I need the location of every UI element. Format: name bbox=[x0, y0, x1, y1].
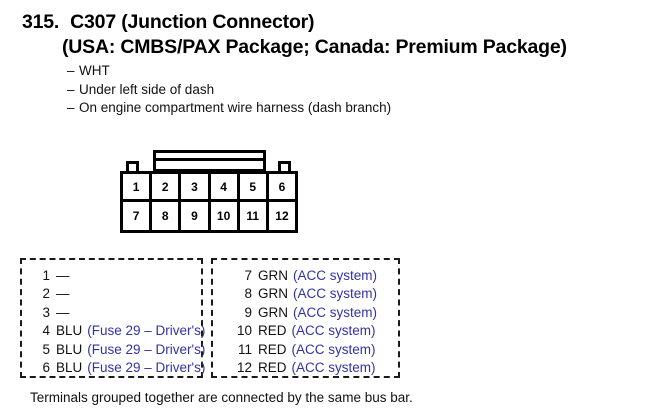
note-item: – On engine compartment wire harness (da… bbox=[67, 99, 627, 118]
terminal-legend-pin: 3 bbox=[30, 304, 50, 322]
page-title: 315. C307 (Junction Connector) (USA: CMB… bbox=[22, 10, 662, 60]
terminal-legend-circuit: (ACC system) bbox=[293, 304, 377, 322]
connector-title-text: C307 (Junction Connector) bbox=[70, 10, 314, 35]
terminal-cell: 6 bbox=[269, 174, 295, 199]
terminal-legend-row: 7 GRN (ACC system) bbox=[213, 267, 398, 285]
note-item-label: WHT bbox=[79, 62, 110, 81]
terminal-cell: 8 bbox=[152, 202, 181, 230]
terminal-legend-circuit: (ACC system) bbox=[293, 285, 377, 303]
terminal-legend-row: 5 BLU (Fuse 29 – Driver's) bbox=[22, 341, 201, 359]
terminal-legend-pin: 4 bbox=[30, 322, 50, 340]
terminal-legend-wire-color: BLU bbox=[56, 341, 82, 359]
terminal-legend-wire-color: RED bbox=[258, 359, 287, 377]
terminal-legend-pin: 11 bbox=[226, 341, 252, 359]
terminal-legend-wire-color: GRN bbox=[258, 285, 288, 303]
terminal-legend-pin: 9 bbox=[226, 304, 252, 322]
terminal-legend-pin: 1 bbox=[30, 267, 50, 285]
note-dash-icon: – bbox=[67, 99, 79, 118]
terminal-legend-wire-color: GRN bbox=[258, 304, 288, 322]
terminal-legend-pin: 8 bbox=[226, 285, 252, 303]
terminal-legend-row: 8 GRN (ACC system) bbox=[213, 285, 398, 303]
terminal-legend-wire-color: RED bbox=[258, 322, 287, 340]
note-item-label: Under left side of dash bbox=[79, 81, 214, 100]
connector-terminal-grid: 1 2 3 4 5 6 7 8 9 10 11 12 bbox=[120, 171, 298, 233]
terminal-legend-row: 1 — bbox=[22, 267, 201, 285]
terminal-legend-circuit: (ACC system) bbox=[292, 322, 376, 340]
connector-latch-tab bbox=[153, 150, 266, 172]
terminal-cell: 2 bbox=[152, 174, 181, 199]
terminal-cell: 9 bbox=[181, 202, 210, 230]
terminal-cell: 4 bbox=[211, 174, 240, 199]
terminal-legend-circuit: (ACC system) bbox=[293, 267, 377, 285]
terminal-cell: 7 bbox=[123, 202, 152, 230]
terminal-legend-wire-color: BLU bbox=[56, 359, 82, 377]
bus-bar-footnote: Terminals grouped together are connected… bbox=[30, 389, 413, 407]
terminal-legend-pin: 6 bbox=[30, 359, 50, 377]
note-item: – Under left side of dash bbox=[67, 81, 627, 100]
bus-bar-group-left: 1 — 2 — 3 — 4 BLU (Fuse 29 – Driver's) 5… bbox=[20, 258, 203, 378]
terminal-cell: 1 bbox=[123, 174, 152, 199]
terminal-legend-pin: 7 bbox=[226, 267, 252, 285]
note-dash-icon: – bbox=[67, 81, 79, 100]
note-item-label: On engine compartment wire harness (dash… bbox=[79, 99, 391, 118]
terminal-legend-circuit: (Fuse 29 – Driver's) bbox=[87, 341, 205, 359]
terminal-legend-row: 10 RED (ACC system) bbox=[213, 322, 398, 340]
terminal-legend-wire-color: — bbox=[56, 267, 70, 285]
connector-notes-list: – WHT – Under left side of dash – On eng… bbox=[67, 62, 627, 118]
terminal-cell: 10 bbox=[211, 202, 240, 230]
terminal-legend-circuit: (Fuse 29 – Driver's) bbox=[87, 322, 205, 340]
terminal-row-top: 1 2 3 4 5 6 bbox=[123, 174, 295, 202]
terminal-legend-wire-color: — bbox=[56, 285, 70, 303]
title-line-primary: 315. C307 (Junction Connector) bbox=[22, 10, 662, 35]
terminal-legend-circuit: (ACC system) bbox=[292, 359, 376, 377]
terminal-legend-wire-color: RED bbox=[258, 341, 287, 359]
terminal-legend-circuit: (Fuse 29 – Driver's) bbox=[87, 359, 205, 377]
terminal-legend-row: 12 RED (ACC system) bbox=[213, 359, 398, 377]
note-item: – WHT bbox=[67, 62, 627, 81]
terminal-legend-list-right: 7 GRN (ACC system) 8 GRN (ACC system) 9 … bbox=[213, 260, 398, 377]
terminal-legend-pin: 10 bbox=[226, 322, 252, 340]
terminal-cell: 5 bbox=[240, 174, 269, 199]
connector-subtitle-text: (USA: CMBS/PAX Package; Canada: Premium … bbox=[22, 35, 662, 60]
terminal-legend-circuit: (ACC system) bbox=[292, 341, 376, 359]
terminal-legend-pin: 2 bbox=[30, 285, 50, 303]
terminal-legend-row: 4 BLU (Fuse 29 – Driver's) bbox=[22, 322, 201, 340]
note-dash-icon: – bbox=[67, 62, 79, 81]
terminal-legend-list-left: 1 — 2 — 3 — 4 BLU (Fuse 29 – Driver's) 5… bbox=[22, 260, 201, 377]
terminal-row-bottom: 7 8 9 10 11 12 bbox=[123, 202, 295, 230]
terminal-legend-row: 2 — bbox=[22, 285, 201, 303]
terminal-legend-row: 6 BLU (Fuse 29 – Driver's) bbox=[22, 359, 201, 377]
terminal-legend-pin: 12 bbox=[226, 359, 252, 377]
connector-pinout-diagram: 1 2 3 4 5 6 7 8 9 10 11 12 bbox=[118, 150, 300, 236]
terminal-legend-row: 11 RED (ACC system) bbox=[213, 341, 398, 359]
terminal-cell: 3 bbox=[181, 174, 210, 199]
terminal-legend-wire-color: GRN bbox=[258, 267, 288, 285]
terminal-legend-wire-color: — bbox=[56, 304, 70, 322]
terminal-legend-wire-color: BLU bbox=[56, 322, 82, 340]
bus-bar-group-right: 7 GRN (ACC system) 8 GRN (ACC system) 9 … bbox=[211, 258, 400, 378]
terminal-legend-row: 3 — bbox=[22, 304, 201, 322]
terminal-cell: 12 bbox=[269, 202, 295, 230]
connector-index-number: 315. bbox=[22, 10, 59, 35]
terminal-legend-pin: 5 bbox=[30, 341, 50, 359]
connector-latch-tab-ridge bbox=[153, 158, 266, 161]
terminal-legend-row: 9 GRN (ACC system) bbox=[213, 304, 398, 322]
terminal-cell: 11 bbox=[240, 202, 269, 230]
